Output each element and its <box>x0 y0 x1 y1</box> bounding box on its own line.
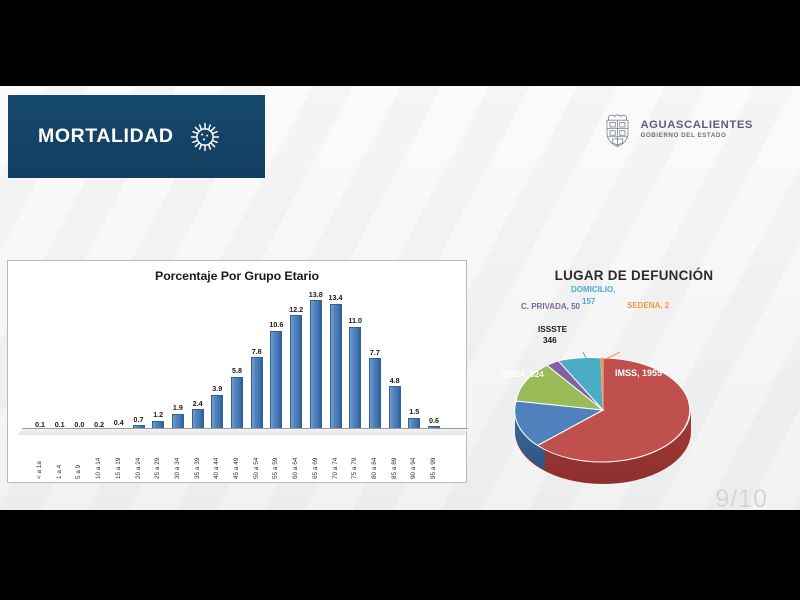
bar-column: 7.7 <box>369 348 381 432</box>
x-axis-label: 30 a 34 <box>174 458 181 479</box>
bar-chart-panel: Porcentaje Por Grupo Etario 0.10.10.00.2… <box>7 260 467 483</box>
bar-column: 13.8 <box>310 290 322 433</box>
bar-chart-x-axis: < a 1a1 a 45 a 910 a 1415 a 1920 a 2425 … <box>24 434 458 480</box>
bar-column: 3.9 <box>211 384 223 432</box>
bar-value-label: 5.8 <box>232 366 242 375</box>
logo-subtitle: GOBIERNO DEL ESTADO <box>640 133 753 140</box>
pie-label-imss: IMSS, 1955 <box>615 368 662 378</box>
bar-value-label: 7.8 <box>252 347 262 356</box>
x-axis-label: 25 a 29 <box>154 458 161 479</box>
bar-value-label: 13.8 <box>309 290 323 299</box>
bar-value-label: 7.7 <box>370 348 380 357</box>
x-axis-label: 20 a 24 <box>135 458 142 479</box>
bar-value-label: 13.4 <box>329 293 343 302</box>
bar-rect <box>270 331 282 432</box>
government-logo: AGUASCALIENTES GOBIERNO DEL ESTADO <box>602 112 753 148</box>
bar-rect <box>251 357 263 432</box>
bar-column: 11.0 <box>349 316 361 432</box>
bar-chart-title: Porcentaje Por Grupo Etario <box>8 269 466 283</box>
bar-chart-plot: 0.10.10.00.20.40.71.21.92.43.95.87.810.6… <box>24 289 458 432</box>
bar-rect <box>349 327 361 432</box>
x-axis-label: 95 a 99 <box>430 458 437 479</box>
x-axis-label: 75 a 79 <box>351 458 358 479</box>
bar-column: 7.8 <box>251 347 263 432</box>
bar-column: 13.4 <box>330 293 342 432</box>
x-axis-label: 15 a 19 <box>115 458 122 479</box>
bar-value-label: 1.9 <box>173 403 183 412</box>
bar-value-label: 0.4 <box>114 418 124 427</box>
x-axis-label: 45 a 49 <box>233 458 240 479</box>
bar-rect <box>310 300 322 432</box>
bar-column: 12.2 <box>290 305 302 432</box>
pie-label-sedena: SEDENA, 2 <box>627 301 669 310</box>
pie-label-domicilio-value: 157 <box>582 297 595 306</box>
bar-value-label: 0.7 <box>134 415 144 424</box>
bar-value-label: 11.0 <box>348 316 362 325</box>
bar-rect <box>369 358 381 432</box>
pie-chart-graphic: C. PRIVADA, 50 DOMICILIO, 157 SEDENA, 2 … <box>475 260 793 483</box>
bar-value-label: 10.6 <box>269 320 283 329</box>
aguascalientes-crest-icon <box>602 112 633 148</box>
bar-column: 5.8 <box>231 366 243 432</box>
x-axis-label: 90 a 94 <box>410 458 417 479</box>
x-axis-label: 65 a 69 <box>312 458 319 479</box>
bar-rect <box>330 304 342 432</box>
pie-label-issste-name: ISSSTE <box>538 325 567 334</box>
presentation-slide: MORTALIDAD <box>0 86 800 510</box>
pie-label-domicilio-name: DOMICILIO, <box>571 285 615 294</box>
slide-header-banner: MORTALIDAD <box>8 95 265 178</box>
x-axis-label: 60 a 64 <box>292 458 299 479</box>
x-axis-label: 5 a 9 <box>75 465 82 479</box>
x-axis-label: 40 a 44 <box>213 458 220 479</box>
x-axis-label: 35 a 39 <box>194 458 201 479</box>
x-axis-label: 10 a 14 <box>95 458 102 479</box>
virus-icon <box>188 120 222 154</box>
video-frame: MORTALIDAD <box>0 0 800 600</box>
x-axis-label: < a 1a <box>36 461 43 479</box>
bar-rect <box>290 315 302 432</box>
bar-value-label: 1.5 <box>409 407 419 416</box>
bar-rect <box>389 386 401 432</box>
bar-value-label: 4.8 <box>390 376 400 385</box>
bar-value-label: 1.2 <box>153 410 163 419</box>
x-axis-label: 55 a 59 <box>272 458 279 479</box>
pie-chart-panel: LUGAR DE DEFUNCIÓN <box>475 260 793 483</box>
pie-label-issste-value: 346 <box>543 336 557 345</box>
bar-rect <box>211 395 223 432</box>
x-axis-label: 50 a 54 <box>253 458 260 479</box>
bar-value-label: 0.6 <box>429 416 439 425</box>
x-axis-label: 70 a 74 <box>332 458 339 479</box>
bar-value-label: 3.9 <box>212 384 222 393</box>
bar-column: 4.8 <box>389 376 401 432</box>
page-number: 9/10 <box>715 485 768 510</box>
x-axis-label: 1 a 4 <box>56 465 63 479</box>
bar-value-label: 2.4 <box>193 399 203 408</box>
bar-column: 2.4 <box>192 399 204 432</box>
bar-rect <box>231 377 243 432</box>
x-axis-label: 85 a 89 <box>391 458 398 479</box>
pie-label-issea: ISSEA, 624 <box>501 370 544 379</box>
logo-name: AGUASCALIENTES <box>640 120 753 132</box>
pie-label-c-privada: C. PRIVADA, 50 <box>521 302 580 311</box>
page-title: MORTALIDAD <box>38 125 174 148</box>
x-axis-label: 80 a 84 <box>371 458 378 479</box>
bar-value-label: 12.2 <box>289 305 303 314</box>
bar-column: 10.6 <box>270 320 282 432</box>
